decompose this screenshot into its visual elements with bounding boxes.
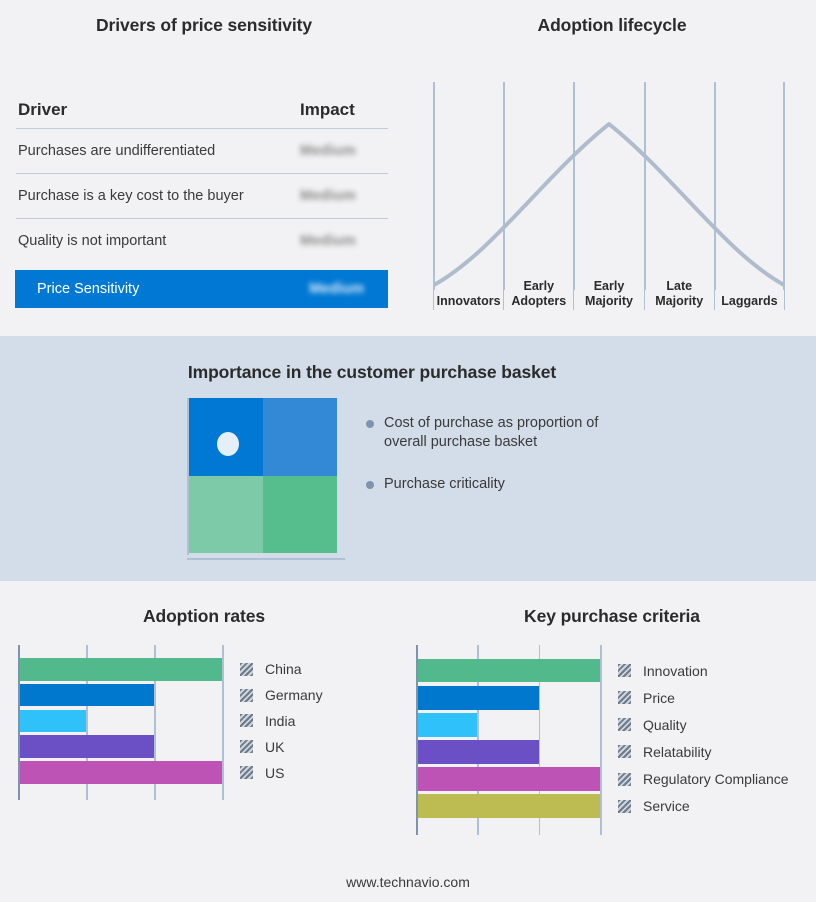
lifecycle-category-early-adopters: Early Adopters — [504, 262, 574, 310]
hatched-square-icon — [240, 663, 253, 676]
drivers-panel-title: Drivers of price sensitivity — [0, 15, 408, 36]
label-line-2: Majority — [585, 294, 633, 309]
driver-impact-value: Medium — [300, 233, 388, 249]
key-purchase-criteria-plot-area — [416, 645, 600, 835]
quadrant-top-left — [189, 398, 263, 476]
quadrant-top-right — [263, 398, 337, 476]
adoption-rates-plot-area — [18, 645, 222, 800]
lifecycle-category-early-majority: Early Majority — [574, 262, 644, 310]
hatched-square-icon — [618, 773, 631, 786]
driver-name: Purchases are undifferentiated — [16, 143, 215, 159]
lifecycle-category-laggards: Laggards — [715, 262, 785, 310]
legend-label: UK — [265, 739, 284, 755]
purchase-basket-legend: Cost of purchase as proportion of overal… — [366, 414, 666, 517]
adoption-rates-chart: ChinaGermanyIndiaUKUS — [18, 645, 388, 800]
position-dot-icon — [217, 432, 239, 456]
label-line-1: Late — [666, 279, 692, 294]
hatched-square-icon — [618, 664, 631, 677]
drivers-panel: Drivers of price sensitivity Driver Impa… — [0, 0, 408, 336]
chart-bar — [20, 735, 154, 758]
label-line-2: Adopters — [511, 294, 566, 309]
legend-label: Price — [643, 690, 675, 706]
legend-item: Regulatory Compliance — [618, 771, 789, 787]
legend-item: Purchase criticality — [366, 475, 666, 494]
chart-gridline — [222, 645, 224, 800]
purchase-basket-panel: Importance in the customer purchase bask… — [0, 336, 816, 581]
label-line-2: Majority — [655, 294, 703, 309]
price-sensitivity-summary-row: Price Sensitivity Medium — [15, 270, 388, 308]
chart-bar — [20, 658, 222, 681]
legend-label: China — [265, 661, 302, 677]
legend-item: Germany — [240, 687, 323, 703]
label-line-2: Innovators — [437, 294, 501, 309]
adoption-lifecycle-title: Adoption lifecycle — [408, 15, 816, 36]
adoption-rates-legend: ChinaGermanyIndiaUKUS — [240, 645, 388, 800]
legend-item: Service — [618, 798, 690, 814]
chart-bar — [418, 794, 600, 818]
chart-bar — [418, 740, 539, 764]
column-header-impact: Impact — [300, 100, 388, 120]
hatched-square-icon — [618, 800, 631, 813]
legend-label: Quality — [643, 717, 687, 733]
lifecycle-category-innovators: Innovators — [433, 262, 504, 310]
infographic-page: Drivers of price sensitivity Driver Impa… — [0, 0, 816, 902]
adoption-rates-panel: Adoption rates ChinaGermanyIndiaUKUS — [0, 581, 408, 871]
bell-curve-line — [433, 82, 785, 290]
legend-label: Regulatory Compliance — [643, 771, 789, 787]
legend-item: Cost of purchase as proportion of overal… — [366, 414, 666, 452]
hatched-square-icon — [240, 689, 253, 702]
chart-bar — [20, 761, 222, 784]
label-line-1: Early — [594, 279, 625, 294]
key-purchase-criteria-panel: Key purchase criteria InnovationPriceQua… — [408, 581, 816, 871]
table-row: Purchases are undifferentiated Medium — [16, 129, 388, 174]
bullet-dot-icon — [366, 481, 374, 489]
chart-bar — [20, 684, 154, 707]
legend-item: India — [240, 713, 295, 729]
lifecycle-category-late-majority: Late Majority — [645, 262, 715, 310]
driver-impact-value: Medium — [300, 188, 388, 204]
legend-item: Quality — [618, 717, 687, 733]
chart-bar — [418, 767, 600, 791]
hatched-square-icon — [618, 691, 631, 704]
legend-item: Relatability — [618, 744, 711, 760]
quadrant-matrix-wrapper — [183, 398, 345, 566]
quadrant-bottom-left — [189, 476, 263, 554]
price-sensitivity-impact-value: Medium — [309, 281, 364, 297]
hatched-square-icon — [618, 745, 631, 758]
legend-label: Innovation — [643, 663, 708, 679]
key-purchase-criteria-chart: InnovationPriceQualityRelatabilityRegula… — [416, 645, 814, 835]
driver-name: Quality is not important — [16, 233, 166, 249]
legend-item: US — [240, 765, 284, 781]
legend-item: Price — [618, 690, 675, 706]
legend-item: China — [240, 661, 302, 677]
chart-bar — [418, 686, 539, 710]
legend-label: India — [265, 713, 295, 729]
column-header-driver: Driver — [16, 100, 67, 120]
hatched-square-icon — [240, 714, 253, 727]
table-row: Purchase is a key cost to the buyer Medi… — [16, 174, 388, 219]
quadrant-bottom-right — [263, 476, 337, 554]
chart-bar — [418, 659, 600, 683]
legend-label: Cost of purchase as proportion of overal… — [384, 414, 634, 452]
adoption-rates-title: Adoption rates — [0, 606, 408, 627]
label-line-2: Laggards — [721, 294, 777, 309]
legend-item: UK — [240, 739, 284, 755]
driver-name: Purchase is a key cost to the buyer — [16, 188, 244, 204]
key-purchase-criteria-legend: InnovationPriceQualityRelatabilityRegula… — [618, 645, 814, 835]
table-header-row: Driver Impact — [16, 92, 388, 129]
key-purchase-criteria-title: Key purchase criteria — [408, 606, 816, 627]
adoption-lifecycle-plot — [433, 82, 785, 290]
label-line-1: Early — [524, 279, 555, 294]
chart-bar — [20, 710, 86, 733]
legend-label: Germany — [265, 687, 323, 703]
hatched-square-icon — [240, 766, 253, 779]
table-row: Quality is not important Medium — [16, 219, 388, 263]
bullet-dot-icon — [366, 420, 374, 428]
footer-url: www.technavio.com — [0, 874, 816, 890]
chart-bar — [418, 713, 477, 737]
legend-label: Service — [643, 798, 690, 814]
legend-label: Relatability — [643, 744, 711, 760]
purchase-basket-title: Importance in the customer purchase bask… — [0, 362, 744, 383]
hatched-square-icon — [240, 740, 253, 753]
legend-item: Innovation — [618, 663, 708, 679]
drivers-table: Driver Impact Purchases are undifferenti… — [16, 92, 388, 263]
legend-label: US — [265, 765, 284, 781]
price-sensitivity-label: Price Sensitivity — [37, 281, 139, 297]
quadrant-x-axis — [187, 558, 345, 560]
chart-gridline — [600, 645, 602, 835]
hatched-square-icon — [618, 718, 631, 731]
quadrant-matrix — [189, 398, 337, 553]
adoption-lifecycle-category-labels: Innovators Early Adopters Early Majority… — [433, 262, 785, 310]
adoption-lifecycle-panel: Adoption lifecycle Innovators Early Adop… — [408, 0, 816, 336]
driver-impact-value: Medium — [300, 143, 388, 159]
legend-label: Purchase criticality — [384, 475, 505, 494]
